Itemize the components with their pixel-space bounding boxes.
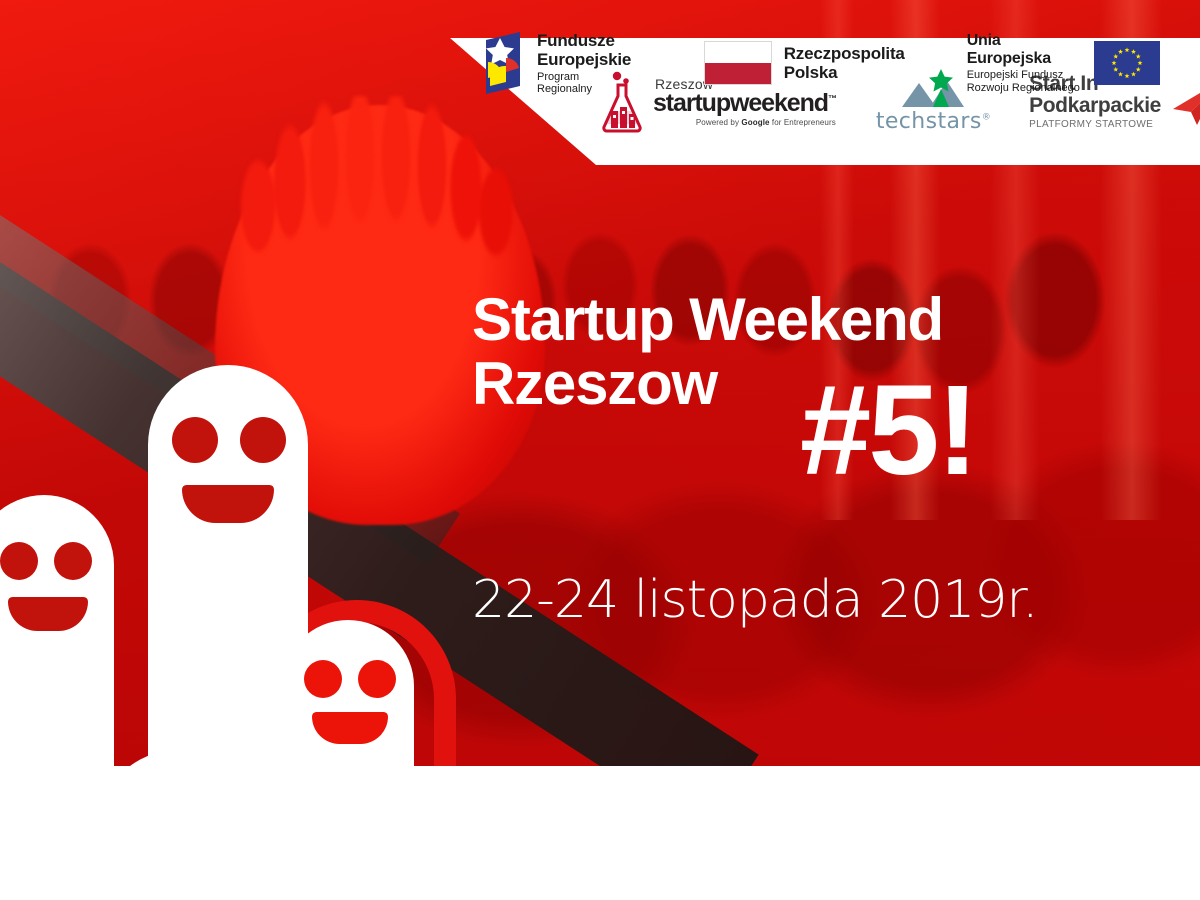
unia-line-1: Europejski Fundusz [967,69,1082,82]
headline-line-1: Startup Weekend [472,286,943,353]
sip-subtitle: PLATFORMY STARTOWE [1029,120,1161,131]
unia-europejska-logo[interactable]: Unia Europejska Europejski Fundusz Rozwo… [967,32,1160,95]
fundusze-europejskie-logo-icon [480,32,526,94]
paper-plane-icon [1167,75,1200,129]
rzeczpospolita-polska-logo[interactable]: Rzeczpospolita Polska [704,41,905,85]
fundusze-line-1: Fundusze [537,31,632,50]
page-title: Startup Weekend Rzeszow [472,288,1112,415]
fundusze-subtitle: Program Regionalny [537,71,632,96]
headline-line-2: Rzeszow [472,352,1112,416]
unia-title: Unia Europejska [967,32,1082,69]
flag-white-band [705,42,771,63]
edition-number: #5! [800,372,976,490]
flag-red-band [705,63,771,84]
mascot-eye-right [54,542,92,580]
polish-flag-icon [704,41,772,85]
event-date: 22-24 listopada 2019r. [472,570,1038,630]
mascot-eye-right [240,417,286,463]
poster-canvas: Rzeszow startupweekend™ Powered by Googl… [0,0,1200,900]
eu-flag-icon [1094,41,1160,85]
mascot-eye-left [0,542,38,580]
mascot-eye-left [304,660,342,698]
fundusze-europejskie-text: Fundusze Europejskie Program Regionalny [537,31,632,96]
registered-symbol: ® [982,113,991,123]
footer-bar [0,766,1200,900]
rzeczpospolita-line-2: Polska [784,63,905,82]
fundusze-europejskie-logo[interactable]: Fundusze Europejskie Program Regionalny [480,31,632,96]
unia-line-2: Rozwoju Regionalnego [967,82,1082,95]
rzeczpospolita-line-1: Rzeczpospolita [784,44,905,63]
rzeczpospolita-text: Rzeczpospolita Polska [784,44,905,83]
powered-by-google-line: Powered by Google for Entrepreneurs [653,119,836,127]
foreground-person-hair [228,96,528,276]
mascot-eye-left [172,417,218,463]
fundusze-line-2: Europejskie [537,50,632,69]
techstars-wordmark: techstars® [876,109,991,134]
footer-logo-row: Fundusze Europejskie Program Regionalny … [480,18,1160,108]
mascot-eye-right [358,660,396,698]
unia-europejska-text: Unia Europejska Europejski Fundusz Rozwo… [967,32,1082,95]
